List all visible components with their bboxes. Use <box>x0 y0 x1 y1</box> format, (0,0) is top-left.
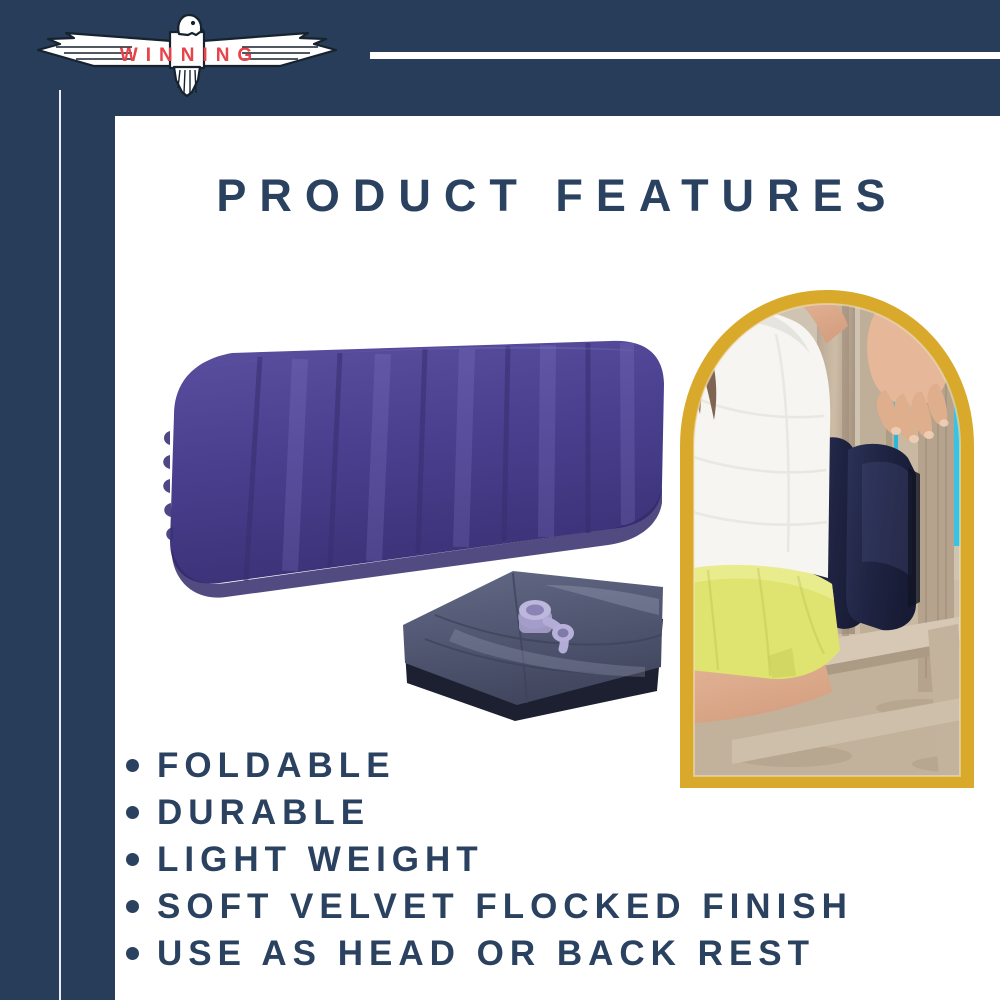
bullet-icon <box>126 900 139 913</box>
feature-list: FOLDABLE DURABLE LIGHT WEIGHT SOFT VELVE… <box>126 742 1000 977</box>
feature-label: USE AS HEAD OR BACK REST <box>157 936 815 971</box>
secondary-product-image <box>395 555 695 735</box>
bullet-icon <box>126 759 139 772</box>
list-item: USE AS HEAD OR BACK REST <box>126 930 1000 977</box>
feature-label: SOFT VELVET FLOCKED FINISH <box>157 889 853 924</box>
list-item: DURABLE <box>126 789 1000 836</box>
bullet-icon <box>126 806 139 819</box>
list-item: FOLDABLE <box>126 742 1000 789</box>
eagle-wings-icon <box>22 8 352 103</box>
list-item: SOFT VELVET FLOCKED FINISH <box>126 883 1000 930</box>
bullet-icon <box>126 947 139 960</box>
lifestyle-image <box>672 278 982 790</box>
list-item: LIGHT WEIGHT <box>126 836 1000 883</box>
page-title: PRODUCT FEATURES <box>115 170 1000 222</box>
left-vertical-accent-rule <box>59 90 61 1000</box>
feature-label: DURABLE <box>157 795 370 830</box>
feature-label: FOLDABLE <box>157 748 396 783</box>
brand-logo: WINNING <box>22 8 352 103</box>
infographic-canvas: WINNING PRODUCT FEATURES <box>0 0 1000 1000</box>
bullet-icon <box>126 853 139 866</box>
feature-label: LIGHT WEIGHT <box>157 842 484 877</box>
header-horizontal-accent-rule <box>370 52 1000 59</box>
